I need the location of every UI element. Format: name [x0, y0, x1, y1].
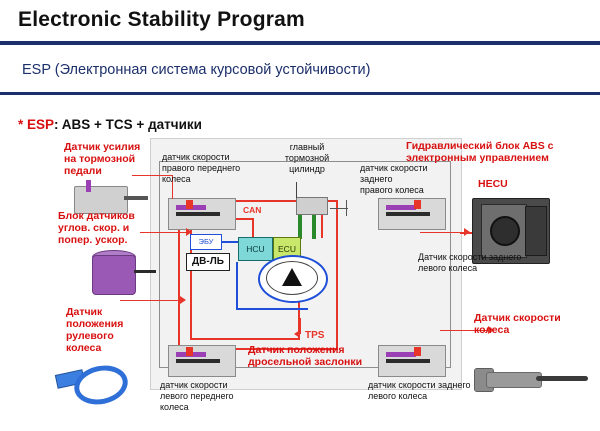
leader-hecu — [420, 232, 464, 233]
page-title: Electronic Stability Program — [18, 8, 305, 32]
label-yaw-accel-sensor-block: Блок датчиковуглов. скор. ипопер. ускор. — [58, 210, 154, 246]
steering-sensor-ring — [71, 361, 132, 409]
wire-blue-left — [236, 262, 238, 310]
leader-mc — [296, 182, 297, 198]
yaw-sensor-wire — [134, 270, 156, 273]
sensor-shaft-fl — [176, 359, 220, 363]
wheel-speed-sensor-body — [486, 372, 542, 388]
label-abs-hydraulic-unit: Гидравлический блок ABS сэлектронным упр… — [406, 140, 596, 164]
label-hecu: HECU — [478, 178, 508, 190]
label-rear-left-wheel-speed: датчик скорости заднеголевого колеса — [368, 380, 482, 402]
hecu-connector — [525, 206, 547, 256]
slide-root: Electronic Stability Program ESP (Электр… — [0, 0, 600, 431]
label-master-cylinder: главныйтормознойцилиндр — [276, 142, 338, 175]
pipe-green-left — [298, 213, 302, 239]
label-brake-pedal-force-sensor: Датчик усилияна тормознойпедали — [64, 141, 156, 177]
leader-steering-pos — [120, 300, 180, 301]
label-rear-left-wheel-speed-right: Датчик скорости заднеголевого колеса — [418, 252, 528, 274]
hecu-motor-icon — [490, 216, 520, 246]
wire-red-right-in — [321, 214, 323, 238]
arrow-tps — [294, 330, 300, 338]
pump-arrow-icon — [282, 268, 302, 286]
sensor-tip-rl — [414, 347, 421, 356]
wire-red-right-vertical — [336, 200, 338, 350]
wire-blue-ebu — [220, 241, 238, 243]
label-throttle-position-sensor: Датчик положениядросельной заслонки — [248, 344, 398, 368]
pipe-green-right — [312, 213, 316, 239]
formula-esp: ESP — [27, 117, 54, 132]
ebu-block: ЭБУ — [190, 234, 222, 250]
leader-tps-v — [300, 318, 301, 334]
label-front-left-wheel-speed: датчик скоростилевого переднегоколеса — [160, 380, 256, 413]
arrow-yaw-block — [186, 228, 192, 236]
label-steering-position-sensor: Датчикположениярулевогоколеса — [66, 306, 148, 354]
tps-label: TPS — [305, 330, 324, 341]
brake-pedal-tip — [86, 180, 91, 192]
sensor-shaft-fr — [176, 212, 220, 216]
label-wheel-speed-sensor: Датчик скоростиколеса — [474, 312, 584, 336]
label-rear-right-wheel-speed: датчик скорости заднегоправого колеса — [360, 163, 450, 196]
wire-blue-bottom — [236, 308, 308, 310]
sensor-shaft-rr — [386, 212, 430, 216]
brake-pedal-rod — [124, 196, 148, 200]
hcu-block: HCU — [238, 237, 273, 261]
esp-formula: * ESP: ABS + TCS + датчики — [18, 117, 202, 132]
formula-star: * — [18, 117, 23, 132]
arrow-hecu — [464, 228, 470, 236]
sensor-bar-rr — [386, 205, 416, 210]
subtitle: ESP (Электронная система курсовой устойч… — [22, 62, 370, 78]
wheel-speed-sensor-cable — [536, 376, 588, 381]
yaw-sensor-body — [92, 255, 136, 295]
subtitle-divider — [0, 92, 600, 95]
sensor-tip-fr — [186, 200, 193, 209]
wire-red-inner-bottom — [190, 338, 300, 340]
engine-block: ДВ-ЛЬ — [186, 253, 230, 271]
sensor-tip-rr — [414, 200, 421, 209]
label-front-right-wheel-speed: датчик скоростиправого переднегоколеса — [162, 152, 252, 185]
formula-rest: : ABS + TCS + датчики — [54, 117, 202, 132]
sensor-tip-fl — [186, 347, 193, 356]
can-bus-label: CAN — [243, 205, 261, 215]
master-cylinder-body — [296, 197, 328, 215]
title-divider — [0, 41, 600, 45]
link-black-reservoir-v — [346, 200, 347, 216]
arrow-steering-pos — [180, 296, 186, 304]
